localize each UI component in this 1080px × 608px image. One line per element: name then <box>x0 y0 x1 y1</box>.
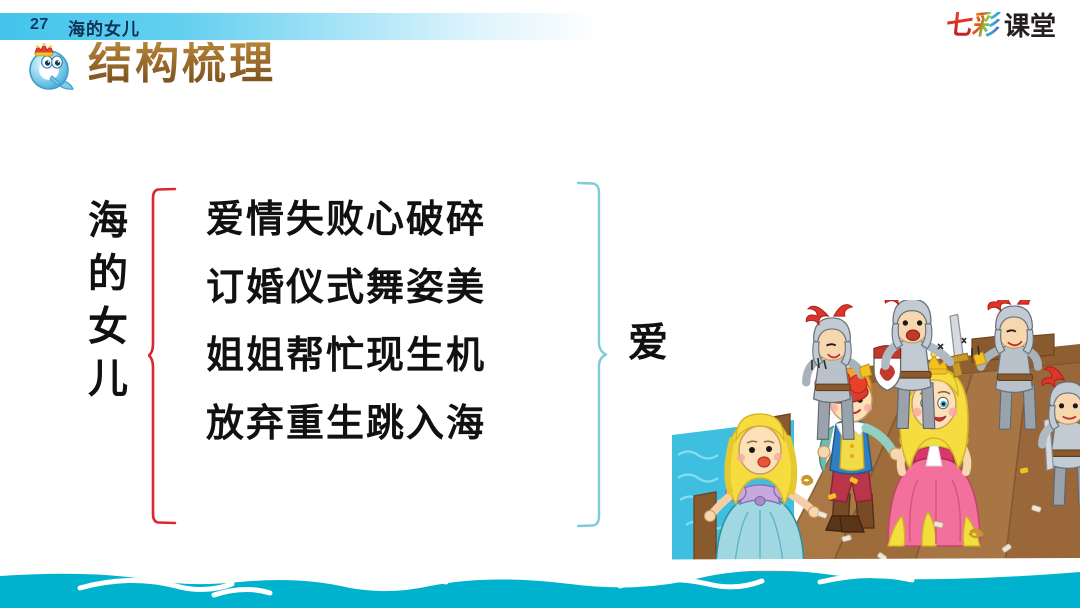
root-char-1: 的 <box>82 248 134 301</box>
bottom-wave-band <box>0 554 1080 608</box>
ship-deck-illustration <box>672 300 1080 588</box>
mindmap-branch-0: 爱情失败心破碎 <box>206 185 566 253</box>
root-char-2: 女 <box>82 301 134 354</box>
root-char-3: 儿 <box>82 353 134 406</box>
mindmap-branches: 爱情失败心破碎 订婚仪式舞姿美 姐姐帮忙现生机 放弃重生跳入海 <box>206 185 566 457</box>
slide-root: 27 海的女儿 七 彩 课堂 <box>0 0 1080 608</box>
mindmap-branch-1: 订婚仪式舞姿美 <box>206 253 566 321</box>
brand-logo-text-ketang: 课堂 <box>1004 13 1056 39</box>
mindmap: 海 的 女 儿 爱情失败心破碎 订婚仪式舞姿美 姐姐帮忙现生机 放弃重生跳入海 … <box>0 150 720 550</box>
chapter-title: 海的女儿 <box>68 15 140 40</box>
brand-logo-char-qi: 七 <box>945 12 974 39</box>
mindmap-branch-2: 姐姐帮忙现生机 <box>206 321 566 389</box>
chapter-number: 27 <box>30 16 49 34</box>
root-char-0: 海 <box>82 195 134 248</box>
mindmap-leaf-label: 爱 <box>628 310 668 368</box>
left-brace <box>148 186 178 531</box>
blue-q-mascot-icon <box>22 40 78 96</box>
right-brace <box>575 180 609 535</box>
brand-logo-char-cai: 彩 <box>971 12 1003 39</box>
brand-logo: 七 彩 课堂 <box>946 12 1056 39</box>
page-title: 结构梳理 <box>88 42 276 86</box>
mindmap-branch-3: 放弃重生跳入海 <box>206 389 566 457</box>
mindmap-root-label: 海 的 女 儿 <box>82 195 134 406</box>
